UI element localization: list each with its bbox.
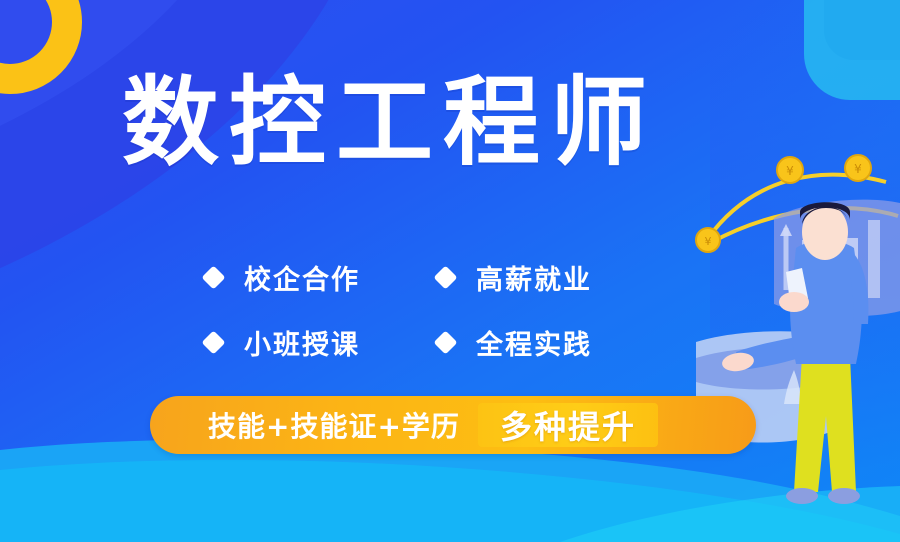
- cta-text: 技能+技能证+学历: [208, 405, 460, 445]
- feature-item-4: 全程实践: [437, 323, 669, 362]
- feature-label: 全程实践: [476, 323, 592, 362]
- feature-label: 高薪就业: [476, 258, 592, 297]
- feature-item-3: 小班授课: [205, 323, 437, 362]
- feature-item-1: 校企合作: [205, 258, 437, 297]
- diamond-bullet-icon: [201, 330, 225, 354]
- diamond-bullet-icon: [201, 265, 225, 289]
- feature-label: 校企合作: [244, 258, 360, 297]
- diamond-bullet-icon: [433, 330, 457, 354]
- banner-content: 数控工程师 校企合作 高薪就业 小班授课 全程实践 技能+技能证+学历: [0, 0, 900, 542]
- feature-label: 小班授课: [244, 323, 360, 362]
- feature-item-2: 高薪就业: [437, 258, 669, 297]
- promo-banner: ¥ ¥ ¥: [0, 0, 900, 542]
- page-title: 数控工程师: [122, 74, 657, 171]
- cta-highlight-chip: 多种提升: [478, 403, 658, 447]
- diamond-bullet-icon: [433, 265, 457, 289]
- cta-highlight-text: 多种提升: [500, 402, 636, 448]
- feature-list: 校企合作 高薪就业 小班授课 全程实践: [205, 258, 675, 362]
- cta-banner-button[interactable]: 技能+技能证+学历 多种提升: [150, 396, 756, 454]
